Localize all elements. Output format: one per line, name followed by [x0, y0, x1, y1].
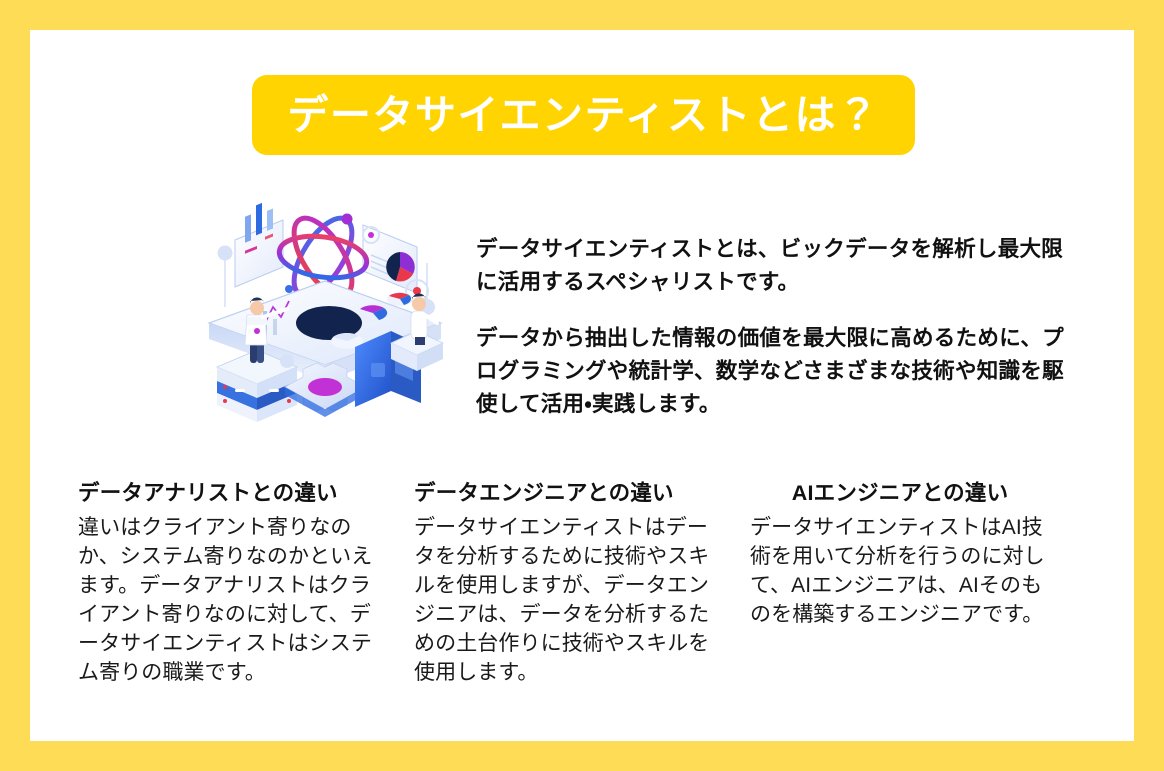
column-heading-data-analyst: データアナリストとの違い — [78, 480, 378, 508]
hero-copy: データサイエンティストとは、ビックデータを解析し最大限に活用するスペシャリストで… — [476, 233, 1064, 420]
column-data-analyst: データアナリストとの違い 違いはクライアント寄りなのか、システム寄りなのかといえ… — [78, 480, 378, 688]
column-body-data-analyst: 違いはクライアント寄りなのか、システム寄りなのかといえます。データアナリストはク… — [78, 514, 378, 688]
column-heading-ai-engineer: AIエンジニアとの違い — [750, 480, 1050, 508]
column-data-engineer: データエンジニアとの違い データサイエンティストはデータを分析するために技術やス… — [414, 480, 714, 688]
hero-paragraph-1: データサイエンティストとは、ビックデータを解析し最大限に活用するスペシャリストで… — [476, 233, 1064, 298]
page-title: データサイエンティストとは？ — [287, 95, 879, 136]
column-body-data-engineer: データサイエンティストはデータを分析するために技術やスキルを使用しますが、データ… — [414, 514, 714, 688]
column-ai-engineer: AIエンジニアとの違い データサイエンティストはAI技術を用いて分析を行うのに対… — [750, 480, 1050, 688]
column-body-ai-engineer: データサイエンティストはAI技術を用いて分析を行うのに対して、AIエンジニアは、… — [750, 514, 1050, 630]
title-banner: データサイエンティストとは？ — [252, 75, 915, 155]
data-science-illustration — [195, 195, 455, 425]
comparison-columns: データアナリストとの違い 違いはクライアント寄りなのか、システム寄りなのかといえ… — [78, 480, 1088, 688]
content-card: データサイエンティストとは？ — [30, 30, 1134, 741]
column-heading-data-engineer: データエンジニアとの違い — [414, 480, 714, 508]
hero-paragraph-2: データから抽出した情報の価値を最大限に高めるために、プログラミングや統計学、数学… — [476, 322, 1064, 420]
hero-section: データサイエンティストとは、ビックデータを解析し最大限に活用するスペシャリストで… — [30, 185, 1134, 445]
poster-frame: データサイエンティストとは？ — [0, 0, 1164, 771]
